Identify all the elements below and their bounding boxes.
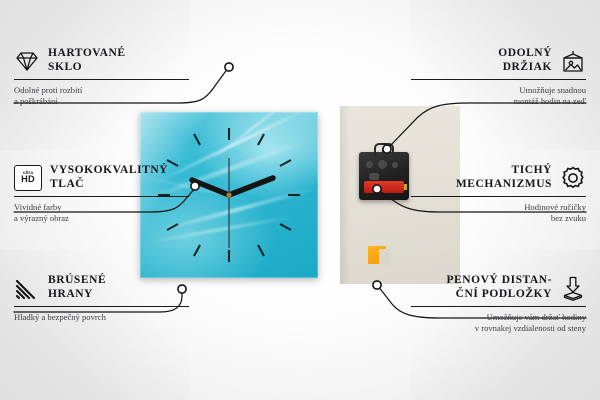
feature-description: Hodinové ručičky bez zvuku bbox=[411, 202, 586, 224]
feature-title: ODOLNÝ DRŽIAK bbox=[498, 47, 552, 74]
feature-ground-edges[interactable]: BRÚSENÉ HRANY Hladký a bezpečný povrch bbox=[14, 274, 189, 323]
feature-header: BRÚSENÉ HRANY bbox=[14, 274, 189, 301]
down-arrow-pad-icon bbox=[560, 275, 586, 301]
ultra-hd-main-label: HD bbox=[21, 175, 35, 184]
feature-high-quality-print[interactable]: ultra HD VYSOKOKVALITNÝ TLAČ Vividné far… bbox=[14, 164, 189, 224]
mechanism-shaft bbox=[382, 148, 386, 155]
feature-title: TICHÝ MECHANIZMUS bbox=[456, 164, 552, 191]
feature-title: HARTOVANÉ SKLO bbox=[48, 47, 126, 74]
mechanism-detail bbox=[392, 162, 398, 168]
clock-mechanism bbox=[359, 152, 409, 200]
diamond-icon bbox=[14, 48, 40, 74]
feature-header: ODOLNÝ DRŽIAK bbox=[411, 47, 586, 74]
clock-hour-hand bbox=[192, 180, 229, 195]
feature-divider bbox=[411, 306, 586, 307]
feature-divider bbox=[14, 79, 189, 80]
clock-center-pin bbox=[226, 192, 231, 197]
feature-description: Hladký a bezpečný povrch bbox=[14, 312, 189, 323]
mechanism-detail bbox=[378, 160, 387, 169]
feature-title: PENOVÝ DISTAN- ČNÍ PODLOŽKY bbox=[446, 274, 552, 301]
gear-icon bbox=[560, 165, 586, 191]
aa-battery bbox=[364, 181, 404, 193]
mechanism-detail bbox=[369, 173, 379, 180]
foam-spacer-pad bbox=[368, 246, 386, 264]
feature-description: Odolné proti rozbití a poškrábání bbox=[14, 85, 189, 107]
diagonal-stripes-icon bbox=[14, 275, 40, 301]
feature-description: Umožňuje vám držať hodiny v rovnakej vzd… bbox=[411, 312, 586, 334]
feature-header: ultra HD VYSOKOKVALITNÝ TLAČ bbox=[14, 164, 189, 191]
feature-header: PENOVÝ DISTAN- ČNÍ PODLOŽKY bbox=[411, 274, 586, 301]
feature-silent-mechanism[interactable]: TICHÝ MECHANIZMUS Hodinové ručičky bez z… bbox=[411, 164, 586, 224]
infographic-canvas: HARTOVANÉ SKLO Odolné proti rozbití a po… bbox=[0, 0, 600, 400]
feature-tempered-glass[interactable]: HARTOVANÉ SKLO Odolné proti rozbití a po… bbox=[14, 47, 189, 107]
feature-header: HARTOVANÉ SKLO bbox=[14, 47, 189, 74]
mechanism-detail bbox=[366, 161, 373, 168]
picture-frame-icon bbox=[560, 48, 586, 74]
feature-divider bbox=[411, 196, 586, 197]
ultra-hd-icon: ultra HD bbox=[14, 165, 42, 191]
feature-title: VYSOKOKVALITNÝ TLAČ bbox=[50, 164, 168, 191]
feature-divider bbox=[14, 196, 189, 197]
feature-divider bbox=[411, 79, 586, 80]
feature-durable-holder[interactable]: ODOLNÝ DRŽIAK Umožňuje snadnou montáž ho… bbox=[411, 47, 586, 107]
feature-description: Umožňuje snadnou montáž hodin na zeď bbox=[411, 85, 586, 107]
leader-node-tempered-glass bbox=[225, 63, 233, 71]
feature-title: BRÚSENÉ HRANY bbox=[48, 274, 106, 301]
feature-foam-spacers[interactable]: PENOVÝ DISTAN- ČNÍ PODLOŽKY Umožňuje vám… bbox=[411, 274, 586, 334]
feature-description: Vividné farby a výrazný obraz bbox=[14, 202, 189, 224]
clock-minute-hand bbox=[229, 178, 273, 195]
feature-divider bbox=[14, 306, 189, 307]
feature-header: TICHÝ MECHANIZMUS bbox=[411, 164, 586, 191]
